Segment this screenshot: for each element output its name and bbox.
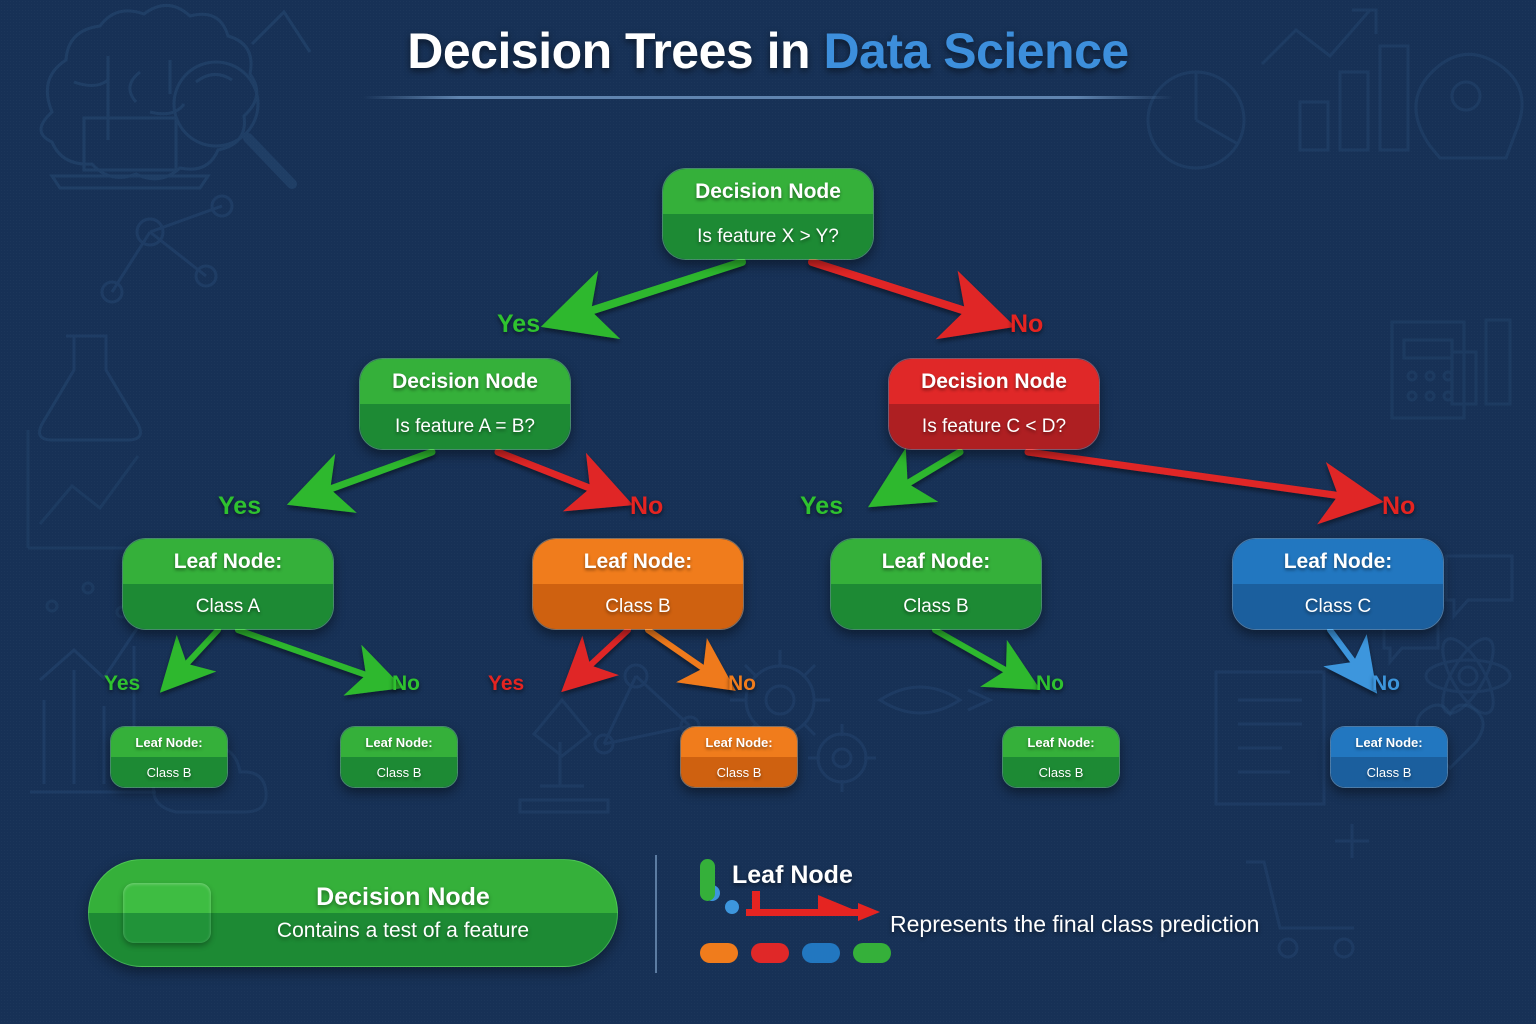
edge-label-l3-a-yes: Yes [104, 672, 140, 696]
edge-label-l2-left-no: No [630, 492, 663, 521]
node-l3-class-a-subtitle: Class A [123, 584, 333, 629]
node-l4-2[interactable]: Leaf Node: Class B [340, 726, 458, 788]
node-l3-class-b-green-title: Leaf Node: [831, 539, 1041, 584]
legend-leaf-swatch [700, 859, 715, 901]
node-l3-class-b-orange-subtitle: Class B [533, 584, 743, 629]
legend-swatch-red [751, 943, 789, 963]
legend: Decision Node Contains a test of a featu… [0, 845, 1536, 1020]
node-l2-left-subtitle: Is feature A = B? [360, 404, 570, 449]
node-l4-4[interactable]: Leaf Node: Class B [1002, 726, 1120, 788]
node-l4-3-subtitle: Class B [681, 757, 797, 787]
edge-label-root-no: No [1010, 310, 1043, 339]
node-l2-right-title: Decision Node [889, 359, 1099, 404]
node-l4-5[interactable]: Leaf Node: Class B [1330, 726, 1448, 788]
node-l2-left-title: Decision Node [360, 359, 570, 404]
title-main: Decision Trees in [407, 23, 823, 79]
node-l4-1[interactable]: Leaf Node: Class B [110, 726, 228, 788]
node-l4-2-subtitle: Class B [341, 757, 457, 787]
edge-label-l3-c-no: No [1036, 672, 1064, 696]
node-l2-right-subtitle: Is feature C < D? [889, 404, 1099, 449]
node-root-title: Decision Node [663, 169, 873, 214]
edge-label-root-yes: Yes [497, 310, 540, 339]
legend-decision-title: Decision Node [211, 883, 595, 912]
legend-swatch-blue [802, 943, 840, 963]
edge-label-l3-d-no: No [1372, 672, 1400, 696]
node-l4-1-title: Leaf Node: [111, 727, 227, 757]
node-l4-5-title: Leaf Node: [1331, 727, 1447, 757]
node-l4-4-subtitle: Class B [1003, 757, 1119, 787]
node-root-subtitle: Is feature X > Y? [663, 214, 873, 259]
node-l3-class-c-title: Leaf Node: [1233, 539, 1443, 584]
node-l4-2-title: Leaf Node: [341, 727, 457, 757]
edge-label-l2-right-no: No [1382, 492, 1415, 521]
node-l3-class-b-green[interactable]: Leaf Node: Class B [830, 538, 1042, 630]
node-l3-class-c[interactable]: Leaf Node: Class C [1232, 538, 1444, 630]
node-l2-left[interactable]: Decision Node Is feature A = B? [359, 358, 571, 450]
edge-label-l3-a-no: No [392, 672, 420, 696]
node-l2-right[interactable]: Decision Node Is feature C < D? [888, 358, 1100, 450]
legend-separator [655, 855, 657, 973]
node-l3-class-a-title: Leaf Node: [123, 539, 333, 584]
node-l3-class-b-orange-title: Leaf Node: [533, 539, 743, 584]
node-l4-3-title: Leaf Node: [681, 727, 797, 757]
node-root[interactable]: Decision Node Is feature X > Y? [662, 168, 874, 260]
legend-decision-subtitle: Contains a test of a feature [211, 919, 595, 943]
edge-label-l2-right-yes: Yes [800, 492, 843, 521]
title-accent: Data Science [823, 23, 1128, 79]
node-l3-class-b-orange[interactable]: Leaf Node: Class B [532, 538, 744, 630]
legend-swatch-row [700, 943, 891, 963]
node-l4-5-subtitle: Class B [1331, 757, 1447, 787]
legend-leaf-description: Represents the final class prediction [890, 911, 1259, 938]
legend-swatch-orange [700, 943, 738, 963]
page-title: Decision Trees in Data Science [0, 22, 1536, 80]
header-divider [363, 96, 1173, 99]
legend-decision-node: Decision Node Contains a test of a featu… [88, 859, 618, 967]
node-l4-3[interactable]: Leaf Node: Class B [680, 726, 798, 788]
legend-leaf-node: Leaf Node Represents the final class pre… [690, 851, 1480, 991]
node-l3-class-a[interactable]: Leaf Node: Class A [122, 538, 334, 630]
header: Decision Trees in Data Science [0, 0, 1536, 140]
legend-swatch-green [853, 943, 891, 963]
node-l4-4-title: Leaf Node: [1003, 727, 1119, 757]
legend-leaf-title: Leaf Node [732, 861, 853, 890]
edge-label-l2-left-yes: Yes [218, 492, 261, 521]
edge-label-l3-b-no: No [728, 672, 756, 696]
edge-label-l3-b-yes: Yes [488, 672, 524, 696]
node-l3-class-c-subtitle: Class C [1233, 584, 1443, 629]
node-l4-1-subtitle: Class B [111, 757, 227, 787]
node-l3-class-b-green-subtitle: Class B [831, 584, 1041, 629]
legend-decision-swatch [123, 883, 211, 943]
